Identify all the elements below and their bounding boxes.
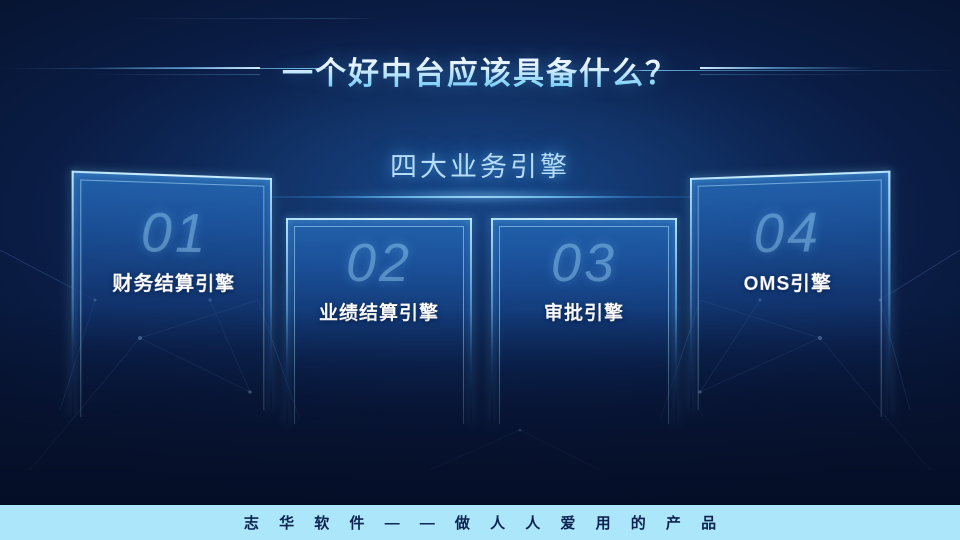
panel-card-2[interactable]: 02 业绩结算引擎 [286,218,472,424]
title-rule-right-icon [700,63,870,77]
panel-top-edge [491,218,677,220]
panel-number: 01 [72,198,272,266]
panel-number: 04 [690,198,890,266]
panel-label: 业绩结算引擎 [286,298,472,325]
panel-number: 03 [491,232,677,294]
panel-label: OMS引擎 [690,267,890,296]
panel-card-1[interactable]: 01 财务结算引擎 [72,171,272,418]
light-streak-top [120,18,380,19]
glow-beam [230,193,730,201]
title-row: 一个好中台应该具备什么？ [0,48,960,92]
panel-number: 02 [286,232,472,294]
panel-label: 财务结算引擎 [72,267,272,296]
page-title: 一个好中台应该具备什么？ [282,48,678,93]
slide-root: 一个好中台应该具备什么？ 四大业务引擎 01 财务结算引擎 [0,0,960,540]
panel-label: 审批引擎 [491,298,677,325]
title-rule-left-icon [90,63,260,77]
panel-card-3[interactable]: 03 审批引擎 [491,218,677,424]
panel-card-4[interactable]: 04 OMS引擎 [690,171,890,418]
panel-top-edge [286,218,472,220]
footer-slogan: 志 华 软 件 — — 做 人 人 爱 用 的 产 品 [236,512,724,533]
footer-bar: 志 华 软 件 — — 做 人 人 爱 用 的 产 品 [0,505,960,540]
